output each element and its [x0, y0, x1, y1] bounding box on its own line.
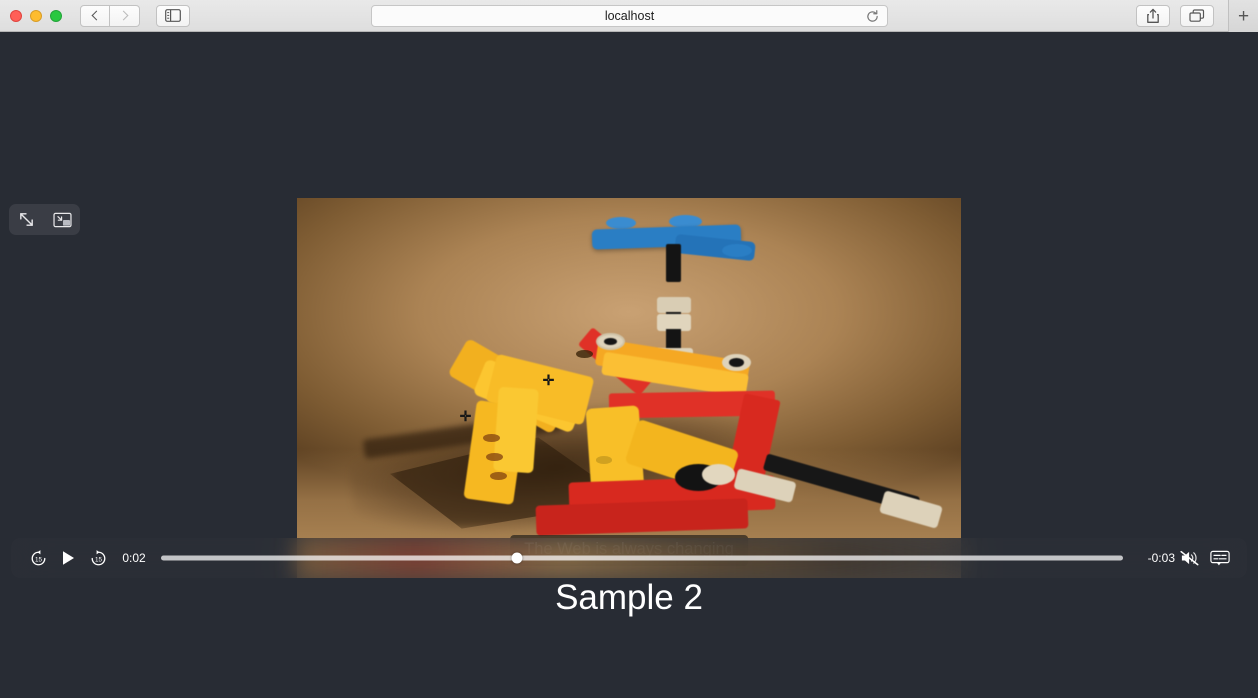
captions-icon — [1210, 550, 1230, 566]
page-title: Sample 2 — [0, 578, 1258, 618]
maximize-window-button[interactable] — [50, 10, 62, 22]
address-bar-text: localhost — [605, 9, 654, 23]
play-button[interactable] — [53, 543, 83, 573]
toolbar-right-buttons — [1136, 5, 1214, 27]
remaining-time-label: -0:03 — [1129, 551, 1175, 565]
mute-button[interactable] — [1175, 543, 1205, 573]
video-player[interactable]: ✛ ✛ The Web is always changing — [297, 198, 961, 578]
reload-icon — [866, 10, 879, 23]
picture-in-picture-icon — [53, 212, 72, 228]
lego-hole — [576, 350, 593, 358]
share-icon — [1146, 8, 1160, 24]
navigation-buttons — [80, 5, 140, 27]
back-button[interactable] — [80, 5, 110, 27]
skip-back-15-icon: 15 — [29, 549, 48, 568]
lego-hole — [483, 434, 500, 442]
picture-in-picture-button[interactable] — [52, 211, 72, 229]
play-icon — [61, 550, 76, 566]
new-tab-button[interactable]: + — [1228, 0, 1258, 32]
enter-fullscreen-button[interactable] — [17, 211, 37, 229]
skip-forward-15-button[interactable]: 15 — [83, 543, 113, 573]
window-traffic-lights — [0, 10, 62, 22]
lego-tan-hub — [702, 464, 735, 485]
seek-track — [161, 556, 1123, 561]
skip-forward-15-icon: 15 — [89, 549, 108, 568]
seek-slider[interactable] — [161, 543, 1123, 573]
svg-text:15: 15 — [35, 556, 42, 563]
minimize-window-button[interactable] — [30, 10, 42, 22]
reload-button[interactable] — [866, 10, 879, 23]
lego-cross-hole: ✛ — [460, 409, 472, 423]
video-frame-image: ✛ ✛ — [297, 198, 961, 578]
lego-hole — [490, 472, 507, 480]
address-bar[interactable]: localhost — [371, 5, 888, 27]
chevron-right-icon — [118, 11, 128, 21]
current-time-label: 0:02 — [113, 551, 155, 565]
tab-overview-button[interactable] — [1180, 5, 1214, 27]
sidebar-toggle-button[interactable] — [156, 5, 190, 27]
video-control-bar: 15 15 0:02 -0:03 — [11, 538, 1247, 578]
floating-media-widget — [9, 204, 80, 235]
chevron-left-icon — [92, 11, 102, 21]
lego-bush — [657, 297, 692, 313]
lego-hole — [596, 456, 612, 464]
fullscreen-arrows-icon — [18, 211, 35, 228]
skip-back-15-button[interactable]: 15 — [23, 543, 53, 573]
lego-axle — [666, 244, 682, 282]
lego-cross-hole: ✛ — [543, 373, 555, 387]
seek-knob[interactable] — [511, 553, 522, 564]
captions-button[interactable] — [1205, 543, 1235, 573]
sidebar-toggle-wrap — [156, 5, 190, 27]
sidebar-icon — [165, 9, 181, 22]
speaker-muted-icon — [1180, 549, 1200, 567]
lego-blue-knob — [722, 244, 752, 257]
browser-toolbar: localhost + — [0, 0, 1258, 32]
forward-button[interactable] — [110, 5, 140, 27]
svg-text:15: 15 — [95, 556, 102, 563]
page-content: ✛ ✛ The Web is always changing 15 — [0, 32, 1258, 698]
close-window-button[interactable] — [10, 10, 22, 22]
share-button[interactable] — [1136, 5, 1170, 27]
tab-overview-icon — [1189, 9, 1205, 23]
